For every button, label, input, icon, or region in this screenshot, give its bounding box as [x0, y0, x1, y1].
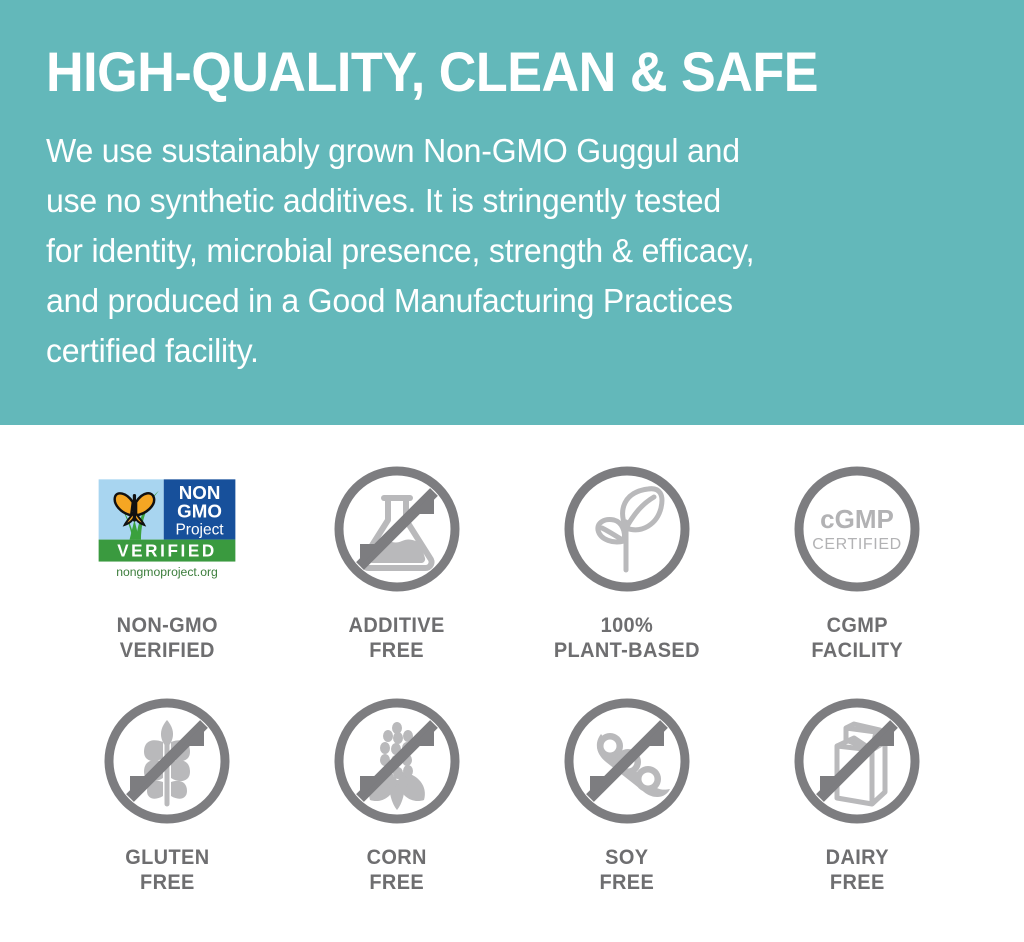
badge-plant-based: 100% PLANT-BASED — [522, 459, 732, 663]
badge-label-line2: VERIFIED — [116, 638, 217, 663]
badge-label-line1: SOY — [605, 846, 648, 869]
badge-label-line1: ADDITIVE — [349, 614, 445, 637]
badge-non-gmo-verified: NON GMO Project VERIFIED nongmoproject.o… — [62, 459, 272, 663]
badge-label-line2: FREE — [600, 870, 655, 895]
hero-description: We use sustainably grown Non-GMO Guggul … — [46, 126, 950, 376]
badge-label: CORN FREE — [367, 845, 427, 895]
badge-label: ADDITIVE FREE — [349, 613, 445, 663]
gmo-logo-verified-text: VERIFIED — [117, 542, 217, 561]
cgmp-seal-main-text: cGMP — [820, 504, 894, 534]
hero-banner: HIGH-QUALITY, CLEAN & SAFE We use sustai… — [0, 0, 1024, 425]
badge-label: GLUTEN FREE — [125, 845, 209, 895]
corn-no-icon — [327, 691, 467, 831]
badge-label: 100% PLANT-BASED — [554, 613, 700, 663]
hero-description-line: We use sustainably grown Non-GMO Guggul … — [46, 126, 950, 176]
badge-label: SOY FREE — [600, 845, 655, 895]
badge-corn-free: CORN FREE — [292, 691, 502, 895]
flask-no-icon — [327, 459, 467, 599]
hero-description-line: certified facility. — [46, 326, 950, 376]
plant-leaf-icon — [557, 459, 697, 599]
badge-label: NON-GMO VERIFIED — [116, 613, 217, 663]
badge-label-line2: FREE — [349, 638, 445, 663]
milk-carton-no-icon — [787, 691, 927, 831]
soybean-no-icon — [557, 691, 697, 831]
badge-cgmp-facility: cGMP CERTIFIED CGMP FACILITY — [752, 459, 962, 663]
badge-additive-free: ADDITIVE FREE — [292, 459, 502, 663]
badge-dairy-free: DAIRY FREE — [752, 691, 962, 895]
non-gmo-project-verified-logo-icon: NON GMO Project VERIFIED nongmoproject.o… — [97, 459, 237, 599]
badge-gluten-free: GLUTEN FREE — [62, 691, 272, 895]
badge-label-line1: CGMP — [826, 614, 887, 637]
badge-soy-free: SOY FREE — [522, 691, 732, 895]
badge-label-line1: 100% — [601, 614, 654, 637]
hero-description-line: use no synthetic additives. It is string… — [46, 176, 950, 226]
badge-label-line1: NON-GMO — [116, 614, 217, 637]
wheat-no-icon — [97, 691, 237, 831]
cgmp-seal-sub-text: CERTIFIED — [812, 536, 902, 553]
badge-row-1: NON GMO Project VERIFIED nongmoproject.o… — [62, 459, 962, 663]
hero-description-line: for identity, microbial presence, streng… — [46, 226, 950, 276]
certification-badge-grid: NON GMO Project VERIFIED nongmoproject.o… — [0, 425, 1024, 942]
badge-label-line1: CORN — [367, 846, 427, 869]
gmo-logo-url-text: nongmoproject.org — [116, 565, 218, 579]
badge-label-line2: FACILITY — [811, 638, 903, 663]
badge-label: CGMP FACILITY — [811, 613, 903, 663]
badge-label-line2: FREE — [125, 870, 209, 895]
gmo-logo-gmo-text: GMO — [177, 501, 222, 522]
badge-label-line2: FREE — [825, 870, 888, 895]
badge-label-line1: DAIRY — [825, 846, 888, 869]
cgmp-certified-seal-icon: cGMP CERTIFIED — [787, 459, 927, 599]
badge-label-line2: FREE — [367, 870, 427, 895]
page-title: HIGH-QUALITY, CLEAN & SAFE — [46, 44, 913, 100]
badge-label-line1: GLUTEN — [125, 846, 209, 869]
badge-label-line2: PLANT-BASED — [554, 638, 700, 663]
gmo-logo-non-text: NON — [179, 482, 221, 503]
gmo-logo-project-text: Project — [176, 522, 225, 539]
badge-row-2: GLUTEN FREE — [62, 691, 962, 895]
hero-description-line: and produced in a Good Manufacturing Pra… — [46, 276, 950, 326]
badge-label: DAIRY FREE — [825, 845, 888, 895]
